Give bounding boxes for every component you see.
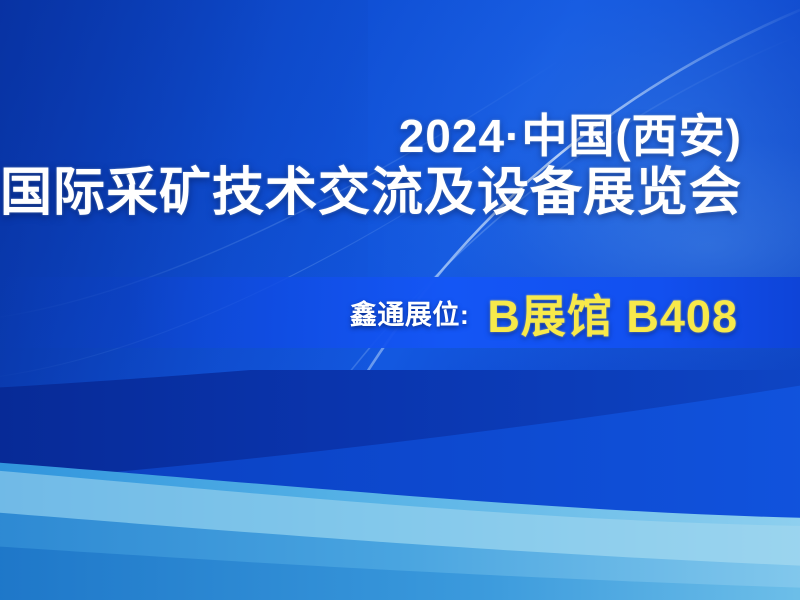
event-poster: 2024·中国(西安) 国际采矿技术交流及设备展览会 鑫通展位: B展馆 B40…: [0, 0, 800, 600]
title-line-1: 2024·中国(西安): [0, 112, 742, 161]
booth-number: B展馆 B408: [487, 280, 738, 345]
bottom-wave-bands: [0, 370, 800, 600]
booth-label: 鑫通展位:: [350, 293, 470, 332]
title-line-2: 国际采矿技术交流及设备展览会: [0, 165, 742, 221]
booth-banner-strip: 鑫通展位: B展馆 B408: [0, 277, 800, 348]
poster-title: 2024·中国(西安) 国际采矿技术交流及设备展览会: [0, 112, 800, 221]
